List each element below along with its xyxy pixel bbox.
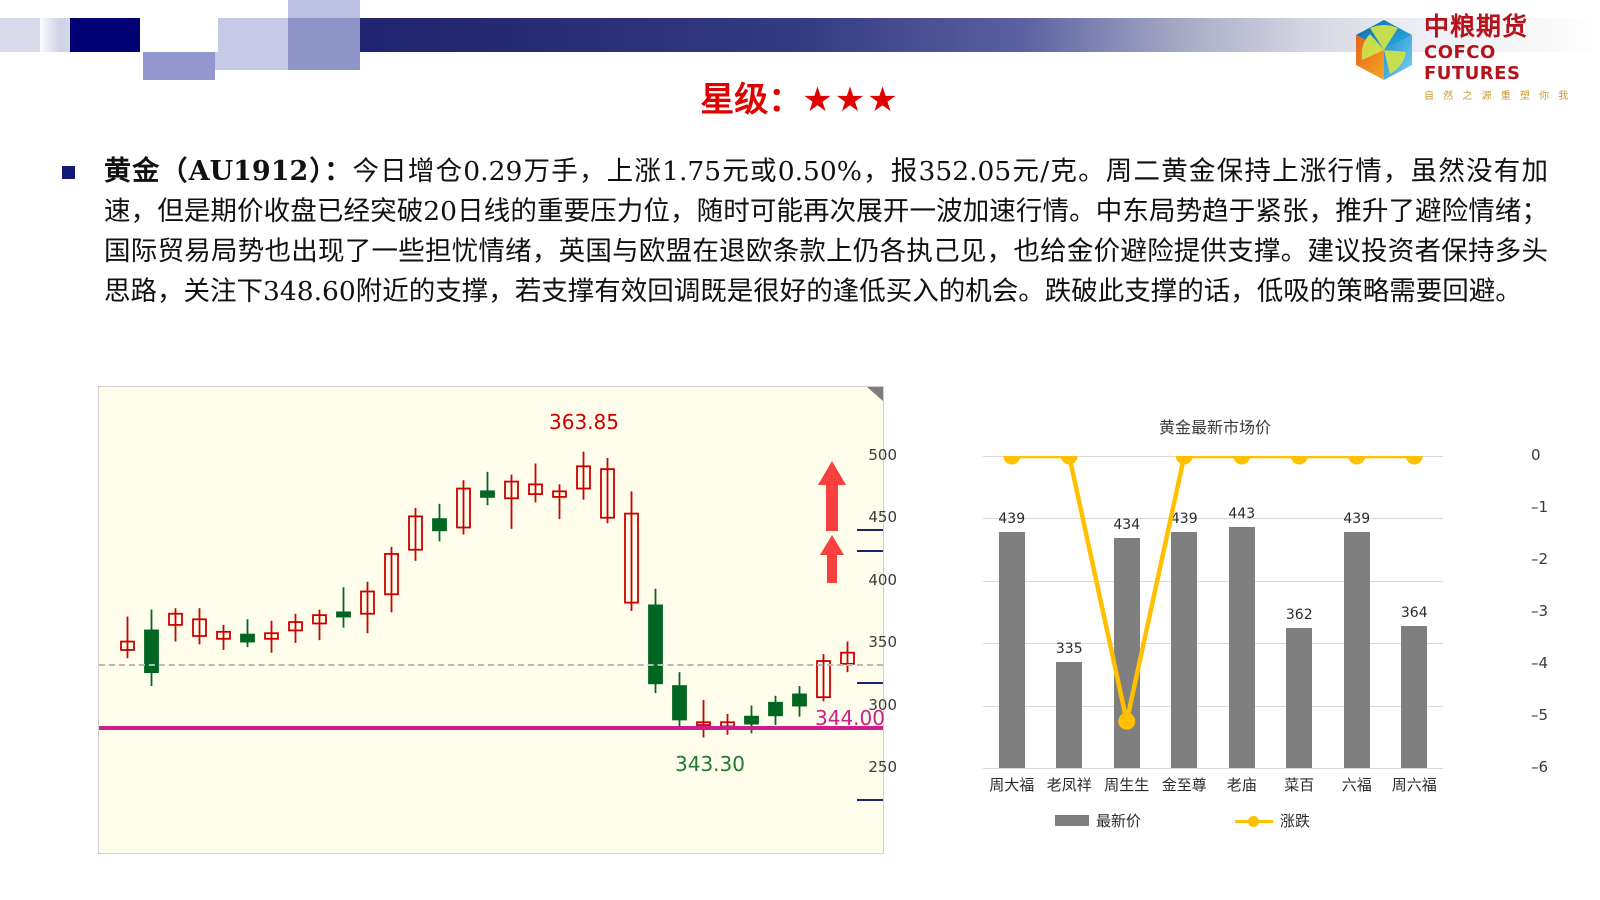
legend-line-swatch-icon <box>1235 815 1273 827</box>
logo-chinese-name: 中粮期货 <box>1424 14 1584 40</box>
commentary-block: 黄金（AU1912）：今日增仓0.29万手，上涨1.75元或0.50%，报352… <box>58 152 1548 312</box>
chart-corner-marker-icon <box>867 387 883 401</box>
legend-label-price: 最新价 <box>1096 810 1141 831</box>
commentary-paragraph: 黄金（AU1912）：今日增仓0.29万手，上涨1.75元或0.50%，报352… <box>104 152 1548 312</box>
market-price-bar-chart[interactable]: 黄金最新市场价 5004504003503002500–1–2–3–4–5–64… <box>905 400 1525 855</box>
y-axis-tick-label: 500 <box>837 446 897 464</box>
bullet-square-icon <box>62 166 75 179</box>
banner-square-white <box>218 0 288 18</box>
y-axis-tick-label: 250 <box>837 758 897 776</box>
y2-axis-tick-label: –3 <box>1531 602 1581 620</box>
banner-square-navy <box>70 18 140 52</box>
y2-axis-tick-label: –6 <box>1531 758 1581 776</box>
y-axis-tick-label: 300 <box>837 696 897 714</box>
gridline <box>983 768 1443 769</box>
legend-item-change[interactable]: 涨跌 <box>1235 810 1310 831</box>
y2-axis-tick-label: –2 <box>1531 550 1581 568</box>
banner-square-lilac-mid <box>218 18 288 52</box>
right-axis-tick-1 <box>857 529 883 531</box>
y2-axis-tick-label: –5 <box>1531 706 1581 724</box>
right-axis-tick-4 <box>857 799 883 801</box>
candlestick-series <box>99 387 883 853</box>
star-rating-label: 星级： <box>700 80 802 120</box>
y2-axis-tick-label: –4 <box>1531 654 1581 672</box>
legend-bar-swatch-icon <box>1055 815 1089 826</box>
banner-square-lilac-top <box>288 0 360 18</box>
candlestick-chart[interactable]: 363.85 343.30 344.00 <box>98 386 884 854</box>
category-label: 周六福 <box>1378 774 1450 795</box>
banner-square-lilac-low <box>215 52 288 70</box>
legend-item-price[interactable]: 最新价 <box>1055 810 1141 831</box>
high-price-label: 363.85 <box>549 410 619 434</box>
star-rating-stars: ★★★ <box>802 80 899 120</box>
right-axis-tick-2 <box>857 550 883 552</box>
legend-label-change: 涨跌 <box>1280 810 1310 831</box>
page-title: 星级：★★★ <box>0 72 1600 121</box>
banner-square-violet-low <box>288 52 360 70</box>
support-price-line <box>99 726 883 730</box>
y2-axis-tick-label: 0 <box>1531 446 1581 464</box>
y-axis-tick-label: 450 <box>837 508 897 526</box>
ma-dashed-line <box>99 664 883 666</box>
banner-square-violet-mid <box>288 18 360 52</box>
slide-page: 中粮期货 COFCO FUTURES 自 然 之 源 重 塑 你 我 星级：★★… <box>0 0 1600 900</box>
right-axis-tick-3 <box>857 682 883 684</box>
banner-square-left-fade <box>0 18 40 52</box>
y2-axis-tick-label: –1 <box>1531 498 1581 516</box>
bar-chart-title: 黄金最新市场价 <box>905 414 1525 438</box>
low-price-label: 343.30 <box>675 752 745 776</box>
commentary-lead: 黄金（AU1912）： <box>104 156 352 187</box>
y-axis-tick-label: 350 <box>837 633 897 651</box>
change-line-series <box>983 456 1443 768</box>
y-axis-tick-label: 400 <box>837 571 897 589</box>
